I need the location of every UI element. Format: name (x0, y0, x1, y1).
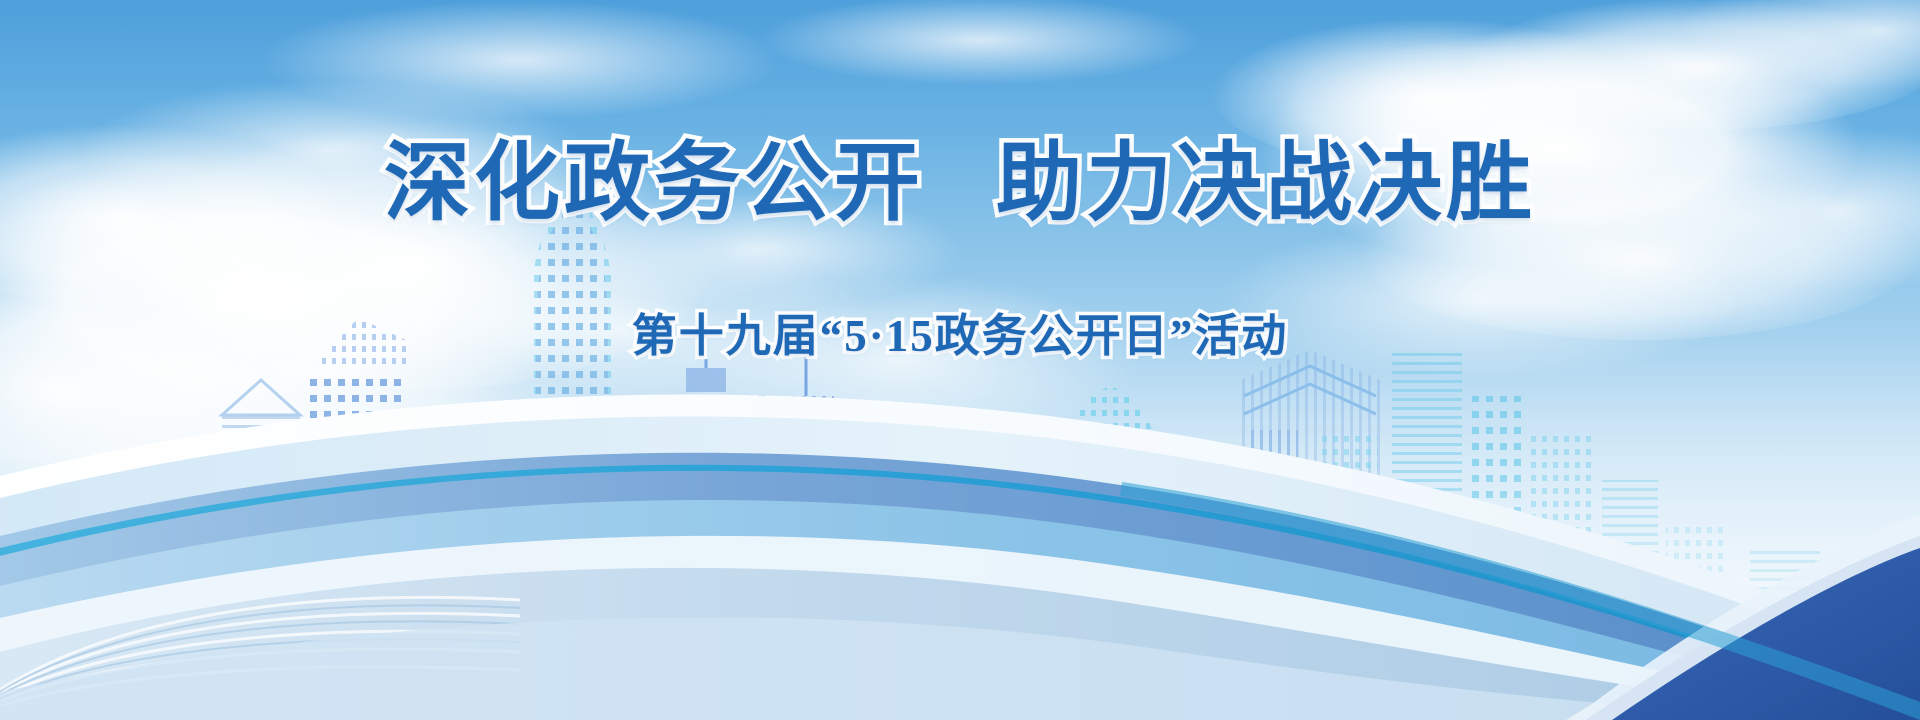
banner-main-title: 深化政务公开助力决战决胜 (0, 138, 1920, 228)
banner-root: 深化政务公开助力决战决胜 第十九届“5·15政务公开日”活动 (0, 0, 1920, 720)
banner-subtitle: 第十九届“5·15政务公开日”活动 (0, 312, 1920, 362)
text-layer: 深化政务公开助力决战决胜 第十九届“5·15政务公开日”活动 (0, 0, 1920, 720)
title-part-1: 深化政务公开 (384, 135, 924, 231)
title-part-2: 助力决战决胜 (996, 135, 1536, 231)
